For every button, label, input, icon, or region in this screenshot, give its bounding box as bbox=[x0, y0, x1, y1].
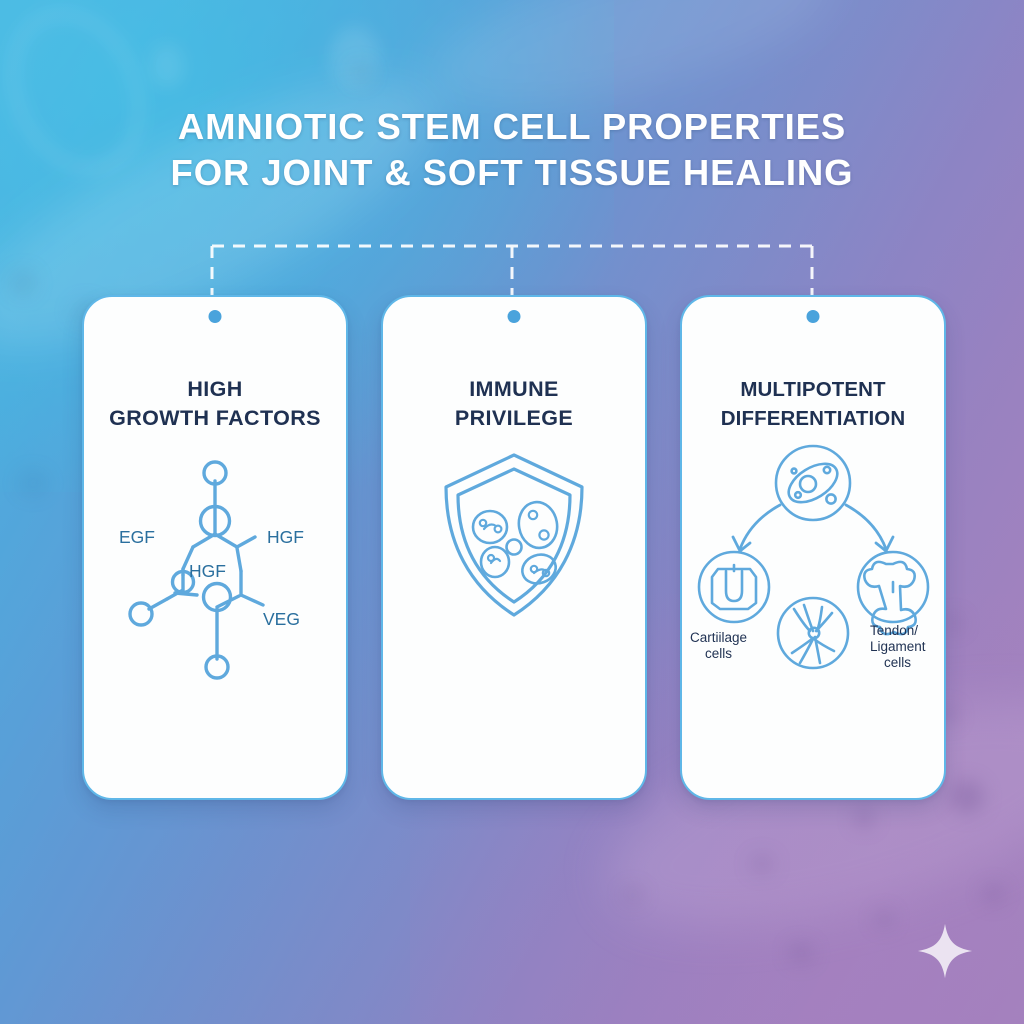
shield-with-cells-icon bbox=[434, 447, 594, 627]
page-title-line-2: FOR JOINT & SOFT TISSUE HEALING bbox=[80, 150, 944, 196]
card-multipotent-differentiation[interactable]: MULTIPOTENT DIFFERENTIATION bbox=[680, 295, 946, 800]
card-illustration: Cartiilagecells Tendon/Ligamentcells bbox=[682, 433, 944, 798]
card-title: HIGH GROWTH FACTORS bbox=[97, 375, 333, 433]
molecule-label-bottom-right: VEG bbox=[263, 609, 300, 629]
growth-factor-molecule-icon: EGF HGF HGF VEG bbox=[105, 447, 325, 697]
card-title: MULTIPOTENT DIFFERENTIATION bbox=[709, 375, 917, 433]
sparkle-star-icon bbox=[916, 922, 974, 980]
cartilage-joint-icon bbox=[699, 552, 769, 622]
arrow-right bbox=[846, 505, 893, 551]
card-immune-privilege[interactable]: IMMUNE PRIVILEGE bbox=[381, 295, 647, 800]
card-connector-dot bbox=[807, 310, 820, 323]
molecule-label-right: HGF bbox=[267, 527, 304, 547]
card-connector-dot bbox=[508, 310, 521, 323]
card-illustration: EGF HGF HGF VEG bbox=[84, 433, 346, 798]
output-label-cartilage: Cartiilagecells bbox=[690, 630, 747, 661]
tendon-fibers-icon bbox=[778, 598, 848, 668]
card-illustration bbox=[383, 433, 645, 798]
card-connector-dot bbox=[209, 310, 222, 323]
molecule-label-left: EGF bbox=[119, 527, 155, 547]
card-title: IMMUNE PRIVILEGE bbox=[443, 375, 585, 433]
card-high-growth-factors[interactable]: HIGH GROWTH FACTORS bbox=[82, 295, 348, 800]
arrow-left bbox=[733, 505, 780, 551]
stem-cell-differentiation-diagram: Cartiilagecells Tendon/Ligamentcells bbox=[688, 437, 938, 687]
page-title-line-1: AMNIOTIC STEM CELL PROPERTIES bbox=[80, 104, 944, 150]
bone-icon bbox=[858, 552, 928, 634]
stem-cell-icon bbox=[776, 446, 850, 520]
output-label-tendon-ligament: Tendon/Ligamentcells bbox=[870, 623, 926, 670]
page-title: AMNIOTIC STEM CELL PROPERTIES FOR JOINT … bbox=[0, 104, 1024, 196]
molecule-label-center: HGF bbox=[189, 561, 226, 581]
cards-row: HIGH GROWTH FACTORS bbox=[82, 295, 946, 800]
